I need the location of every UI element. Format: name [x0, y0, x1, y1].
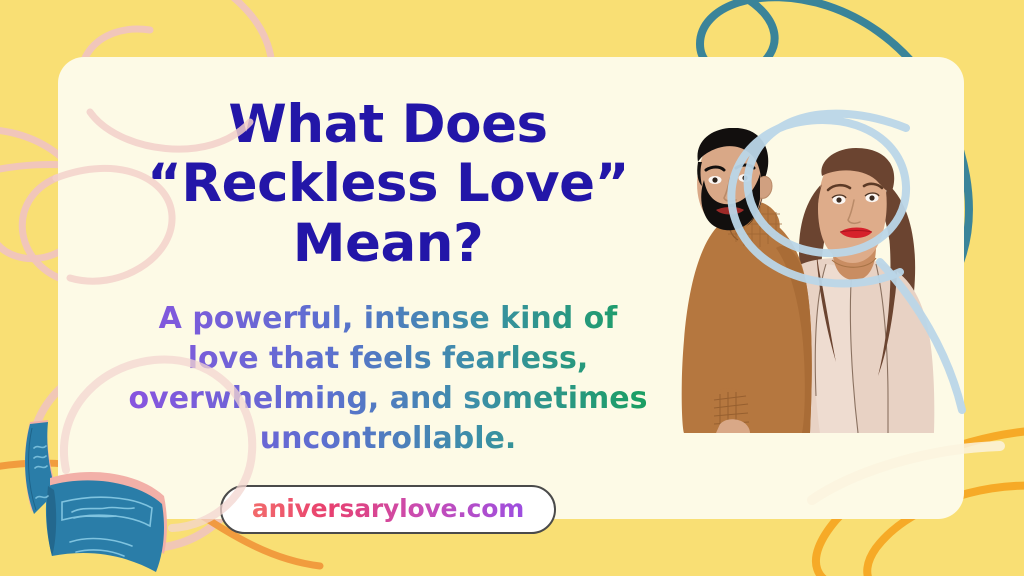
- subtitle-line-1: A powerful, intense kind of: [116, 299, 660, 339]
- subtitle-line-4: uncontrollable.: [116, 419, 660, 459]
- subtitle-line-3: overwhelming, and sometimes: [116, 379, 660, 419]
- website-url-text: aniversarylove.com: [252, 494, 524, 523]
- poster-canvas: What Does “Reckless Love” Mean? A powerf…: [0, 0, 1024, 576]
- subtitle-line-2: love that feels fearless,: [116, 339, 660, 379]
- man-figure: [682, 128, 812, 433]
- open-book-illustration: [0, 404, 192, 576]
- page-title: What Does “Reckless Love” Mean?: [78, 95, 698, 273]
- website-url-badge[interactable]: aniversarylove.com: [220, 485, 556, 534]
- couple-illustration: [676, 128, 966, 433]
